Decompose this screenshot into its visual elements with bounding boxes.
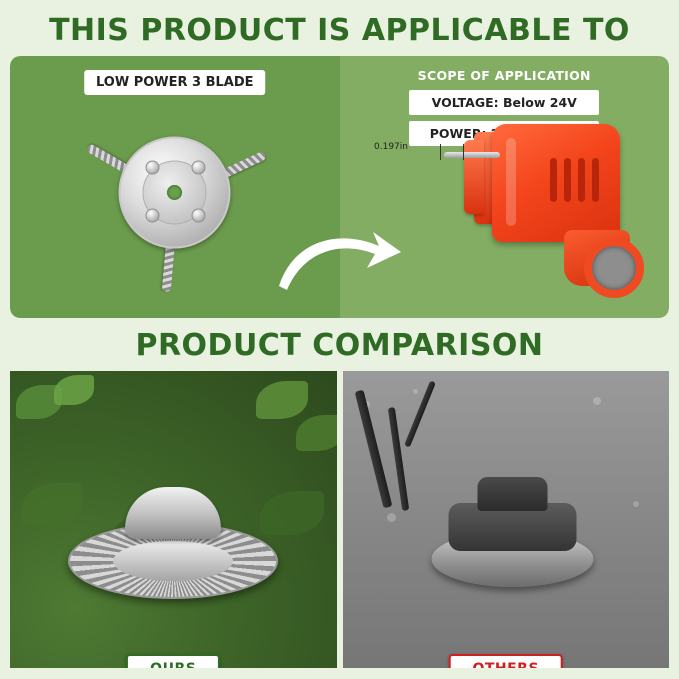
foliage-2: [54, 375, 94, 405]
plastic-trimmer-head: [430, 477, 595, 597]
cutter-dome: [125, 487, 221, 539]
ours-column: OURS Wear-resistant and durable, not eas…: [10, 371, 337, 668]
others-photo: OTHERS: [343, 371, 670, 668]
trimmer-pole-1: [354, 390, 392, 509]
ground-texture-2: [413, 389, 418, 394]
scope-title: SCOPE OF APPLICATION: [409, 68, 599, 83]
foliage-3: [256, 381, 308, 419]
trimmer-vent-1: [550, 158, 557, 202]
page-title-applicable-to: THIS PRODUCT IS APPLICABLE TO: [10, 0, 669, 56]
trimmer-mount-ring: [584, 238, 644, 298]
infographic-page: THIS PRODUCT IS APPLICABLE TO LOW POWER …: [0, 0, 679, 679]
trimmer-vent-2: [564, 158, 571, 202]
trimmer-body: [492, 124, 620, 242]
page-title-comparison: PRODUCT COMPARISON: [10, 318, 669, 371]
blade-bolt-3: [145, 209, 159, 223]
blade-label: LOW POWER 3 BLADE: [84, 70, 266, 95]
blade-bolt-4: [191, 209, 205, 223]
three-blade-illustration: [67, 105, 282, 280]
blade-bolt-1: [145, 161, 159, 175]
trimmer-vent-3: [578, 158, 585, 202]
comparison-section: OURS Wear-resistant and durable, not eas…: [10, 371, 669, 668]
trimmer-vent-4: [592, 158, 599, 202]
ground-texture-5: [387, 513, 396, 522]
ground-texture-3: [593, 397, 601, 405]
dimension-bracket-icon: [440, 144, 464, 160]
others-column: OTHERS ✕ Easy to break and wear ✕ Unable…: [343, 371, 670, 668]
trimmer-pole-3: [404, 380, 436, 447]
foliage-4: [296, 415, 337, 451]
ours-photo: OURS: [10, 371, 337, 668]
trimmer-pole-2: [387, 407, 408, 511]
blade-bolt-2: [191, 161, 205, 175]
plastic-head-cap: [477, 477, 547, 511]
blade-center-hole: [167, 185, 182, 200]
badge-ours: OURS: [126, 654, 220, 668]
dimension-label: 0.197in: [374, 142, 408, 152]
arrow-icon: [275, 224, 405, 294]
trimmer-head-illustration: 0.197in: [452, 106, 647, 296]
application-panel: LOW POWER 3 BLADE SCOPE OF APPLICATION V…: [10, 56, 669, 318]
steel-brush-cutter: [68, 487, 278, 599]
ground-texture-4: [633, 501, 639, 507]
badge-others: OTHERS: [448, 654, 563, 668]
